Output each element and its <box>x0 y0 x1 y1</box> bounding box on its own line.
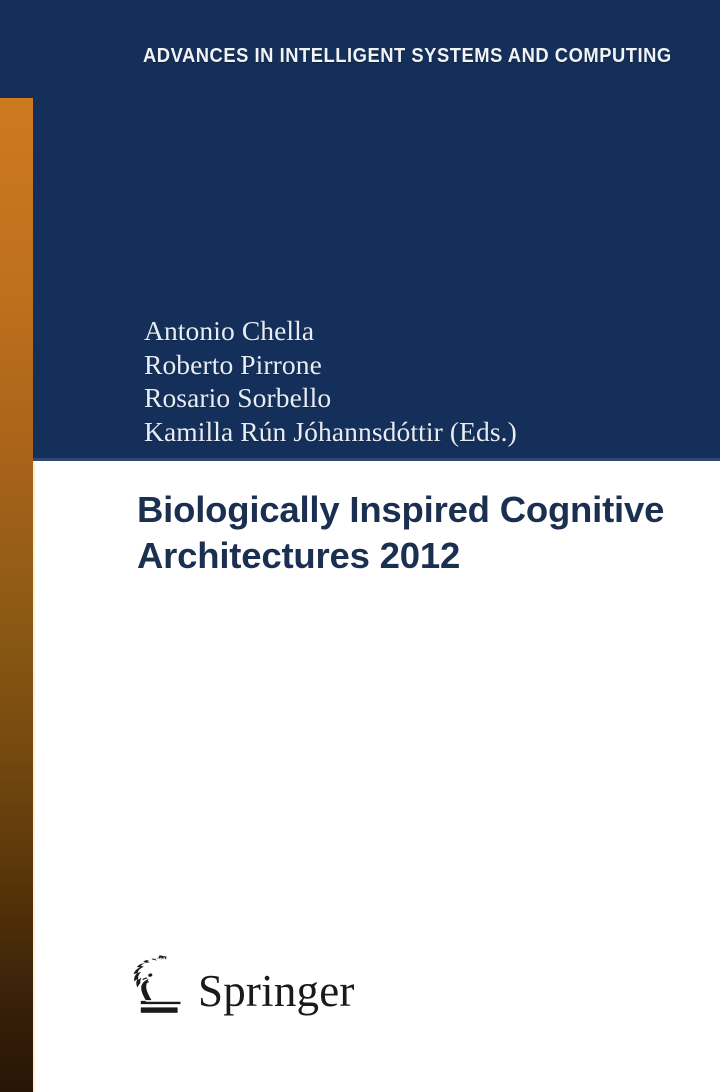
editor-name: Roberto Pirrone <box>144 348 517 382</box>
editor-name: Rosario Sorbello <box>144 381 517 415</box>
book-cover: ADVANCES IN INTELLIGENT SYSTEMS AND COMP… <box>0 0 720 1092</box>
stripe-highlight-edge <box>33 461 35 1092</box>
editor-list: Antonio Chella Roberto Pirrone Rosario S… <box>144 314 517 448</box>
springer-knight-icon <box>128 952 190 1020</box>
book-title-line: Biologically Inspired Cognitive <box>137 487 693 533</box>
series-banner: ADVANCES IN INTELLIGENT SYSTEMS AND COMP… <box>143 44 720 68</box>
book-title: Biologically Inspired Cognitive Architec… <box>137 487 693 579</box>
editor-name: Kamilla Rún Jóhannsdóttir (Eds.) <box>144 415 517 449</box>
editor-name: Antonio Chella <box>144 314 517 348</box>
book-title-line: Architectures 2012 <box>137 533 693 579</box>
orange-accent-stripe <box>0 98 33 1092</box>
publisher-logo: Springer <box>128 952 355 1020</box>
series-title: ADVANCES IN INTELLIGENT SYSTEMS AND COMP… <box>143 44 672 68</box>
springer-wordmark: Springer <box>198 969 355 1014</box>
